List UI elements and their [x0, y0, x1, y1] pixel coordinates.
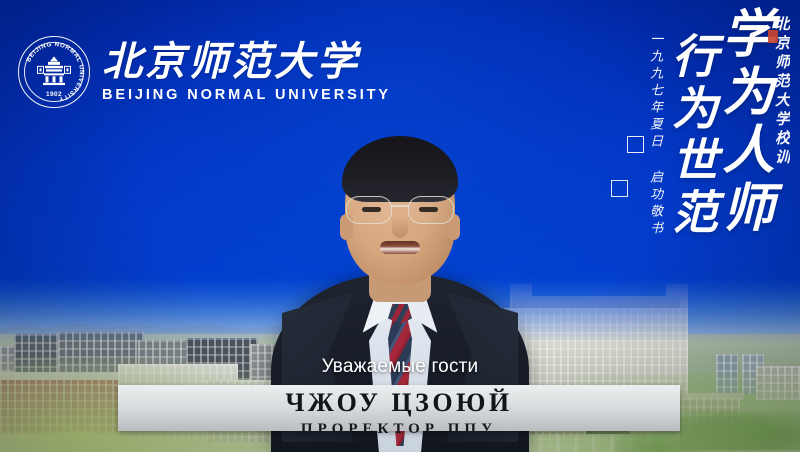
speaker-role: ПРОРЕКТОР ППУ — [118, 416, 680, 437]
speaker-nameplate: ЧЖОУ ЦЗОЮЙ ПРОРЕКТОР ППУ — [118, 385, 680, 431]
university-motto-calligraphy: 北京师范大学校训 学为人师 行为世范 一九九七年夏日 启功敬书 — [582, 6, 792, 256]
seal-stamp-icon — [627, 136, 644, 153]
seal-stamp-icon — [611, 180, 628, 197]
greeting-text: Уважаемые гости — [0, 356, 800, 378]
motto-line-1: 学为人师 — [716, 6, 769, 238]
speaker-nose — [392, 216, 408, 238]
video-broadcast-frame: BEIJING NORMAL UNIVERSITY 1902 北京师范大学 — [0, 0, 800, 452]
speaker-eyebrow-left — [354, 189, 388, 194]
speaker-mouth — [380, 241, 420, 254]
motto-line-2: 行为世范 — [667, 32, 714, 240]
red-seal-stamp-icon — [768, 30, 778, 43]
speaker-eyebrow-right — [412, 189, 446, 194]
university-name-cn: 北京师范大学 — [102, 42, 391, 82]
speaker-name: ЧЖОУ ЦЗОЮЙ — [118, 385, 680, 416]
motto-signature: 一九九七年夏日 启功敬书 — [646, 32, 665, 238]
university-seal-icon: BEIJING NORMAL UNIVERSITY 1902 — [18, 36, 90, 108]
seal-year: 1902 — [19, 91, 89, 98]
